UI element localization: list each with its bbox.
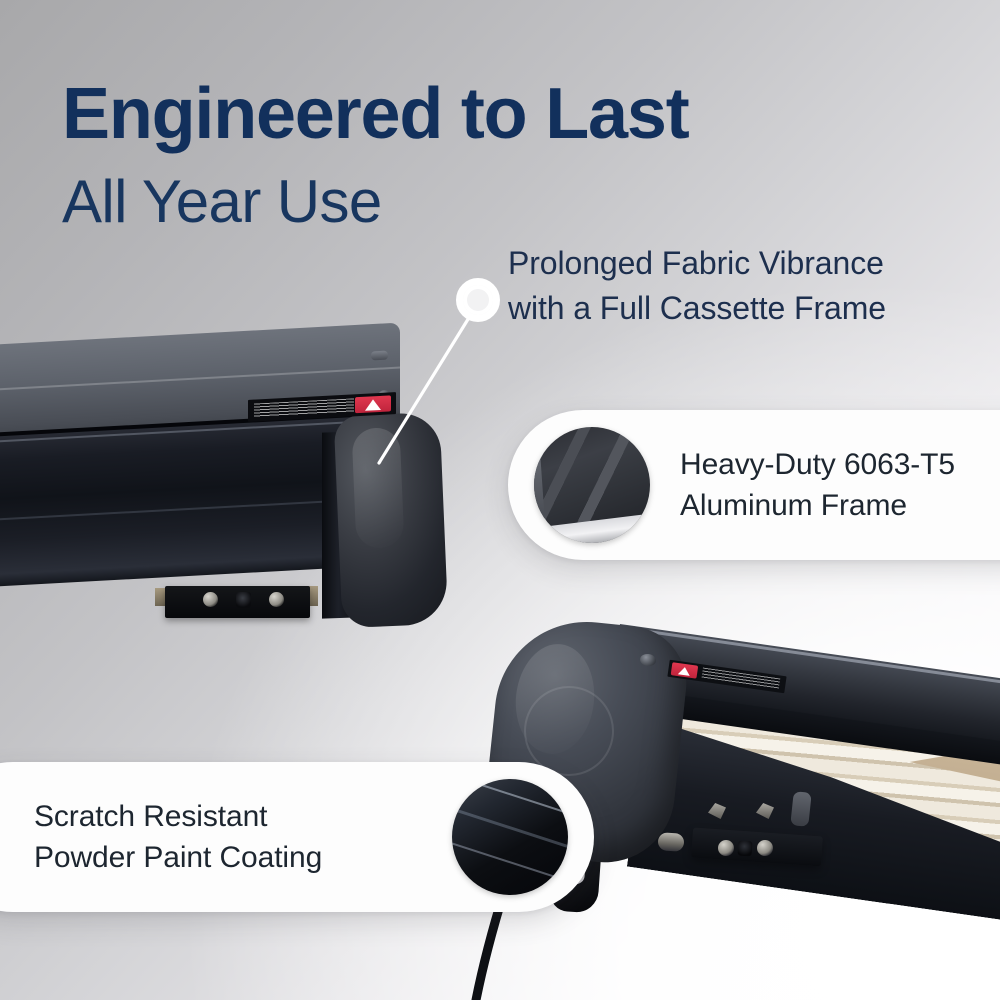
page-title: Engineered to Last xyxy=(62,78,689,150)
callout-aluminum-line2: Aluminum Frame xyxy=(680,485,955,526)
awning-bracket-slot xyxy=(737,841,752,857)
warning-label-fineprint xyxy=(254,398,354,417)
cassette-adjustment-knob xyxy=(371,351,388,361)
bracket-bolt-icon xyxy=(203,592,218,607)
callout-card-aluminum-frame-text: Heavy-Duty 6063-T5 Aluminum Frame xyxy=(650,444,955,527)
callout-powder-line2: Powder Paint Coating xyxy=(34,837,322,878)
page-subtitle: All Year Use xyxy=(62,172,382,232)
warning-triangle-icon xyxy=(355,395,391,413)
callout-card-aluminum-frame[interactable]: Heavy-Duty 6063-T5 Aluminum Frame xyxy=(508,410,1000,560)
warning-triangle-icon xyxy=(671,662,699,679)
cassette-end-cap-highlight xyxy=(352,427,405,549)
awning-gas-cylinder xyxy=(790,791,811,827)
callout-card-powder-paint-text: Scratch Resistant Powder Paint Coating xyxy=(34,796,322,879)
bracket-center-slot xyxy=(236,592,251,608)
callout-powder-line1: Scratch Resistant xyxy=(34,796,322,837)
callout-card-powder-paint[interactable]: Scratch Resistant Powder Paint Coating xyxy=(0,762,594,912)
callout-cassette-frame-line2: with a Full Cassette Frame xyxy=(508,286,886,331)
callout-cassette-frame-line1: Prolonged Fabric Vibrance xyxy=(508,241,886,286)
marketing-image-canvas: Engineered to Last All Year Use Prolonge… xyxy=(0,0,1000,1000)
powder-paint-sheen-line xyxy=(452,804,568,853)
callout-aluminum-line1: Heavy-Duty 6063-T5 xyxy=(680,444,955,485)
awning-pivot-pin xyxy=(657,832,684,852)
bracket-bolt-icon xyxy=(269,592,284,607)
aluminum-extrusion-thumb xyxy=(534,427,650,543)
callout-pointer-ring-icon xyxy=(456,278,500,322)
powder-paint-thumb xyxy=(452,779,568,895)
callout-cassette-frame: Prolonged Fabric Vibrance with a Full Ca… xyxy=(508,241,886,332)
